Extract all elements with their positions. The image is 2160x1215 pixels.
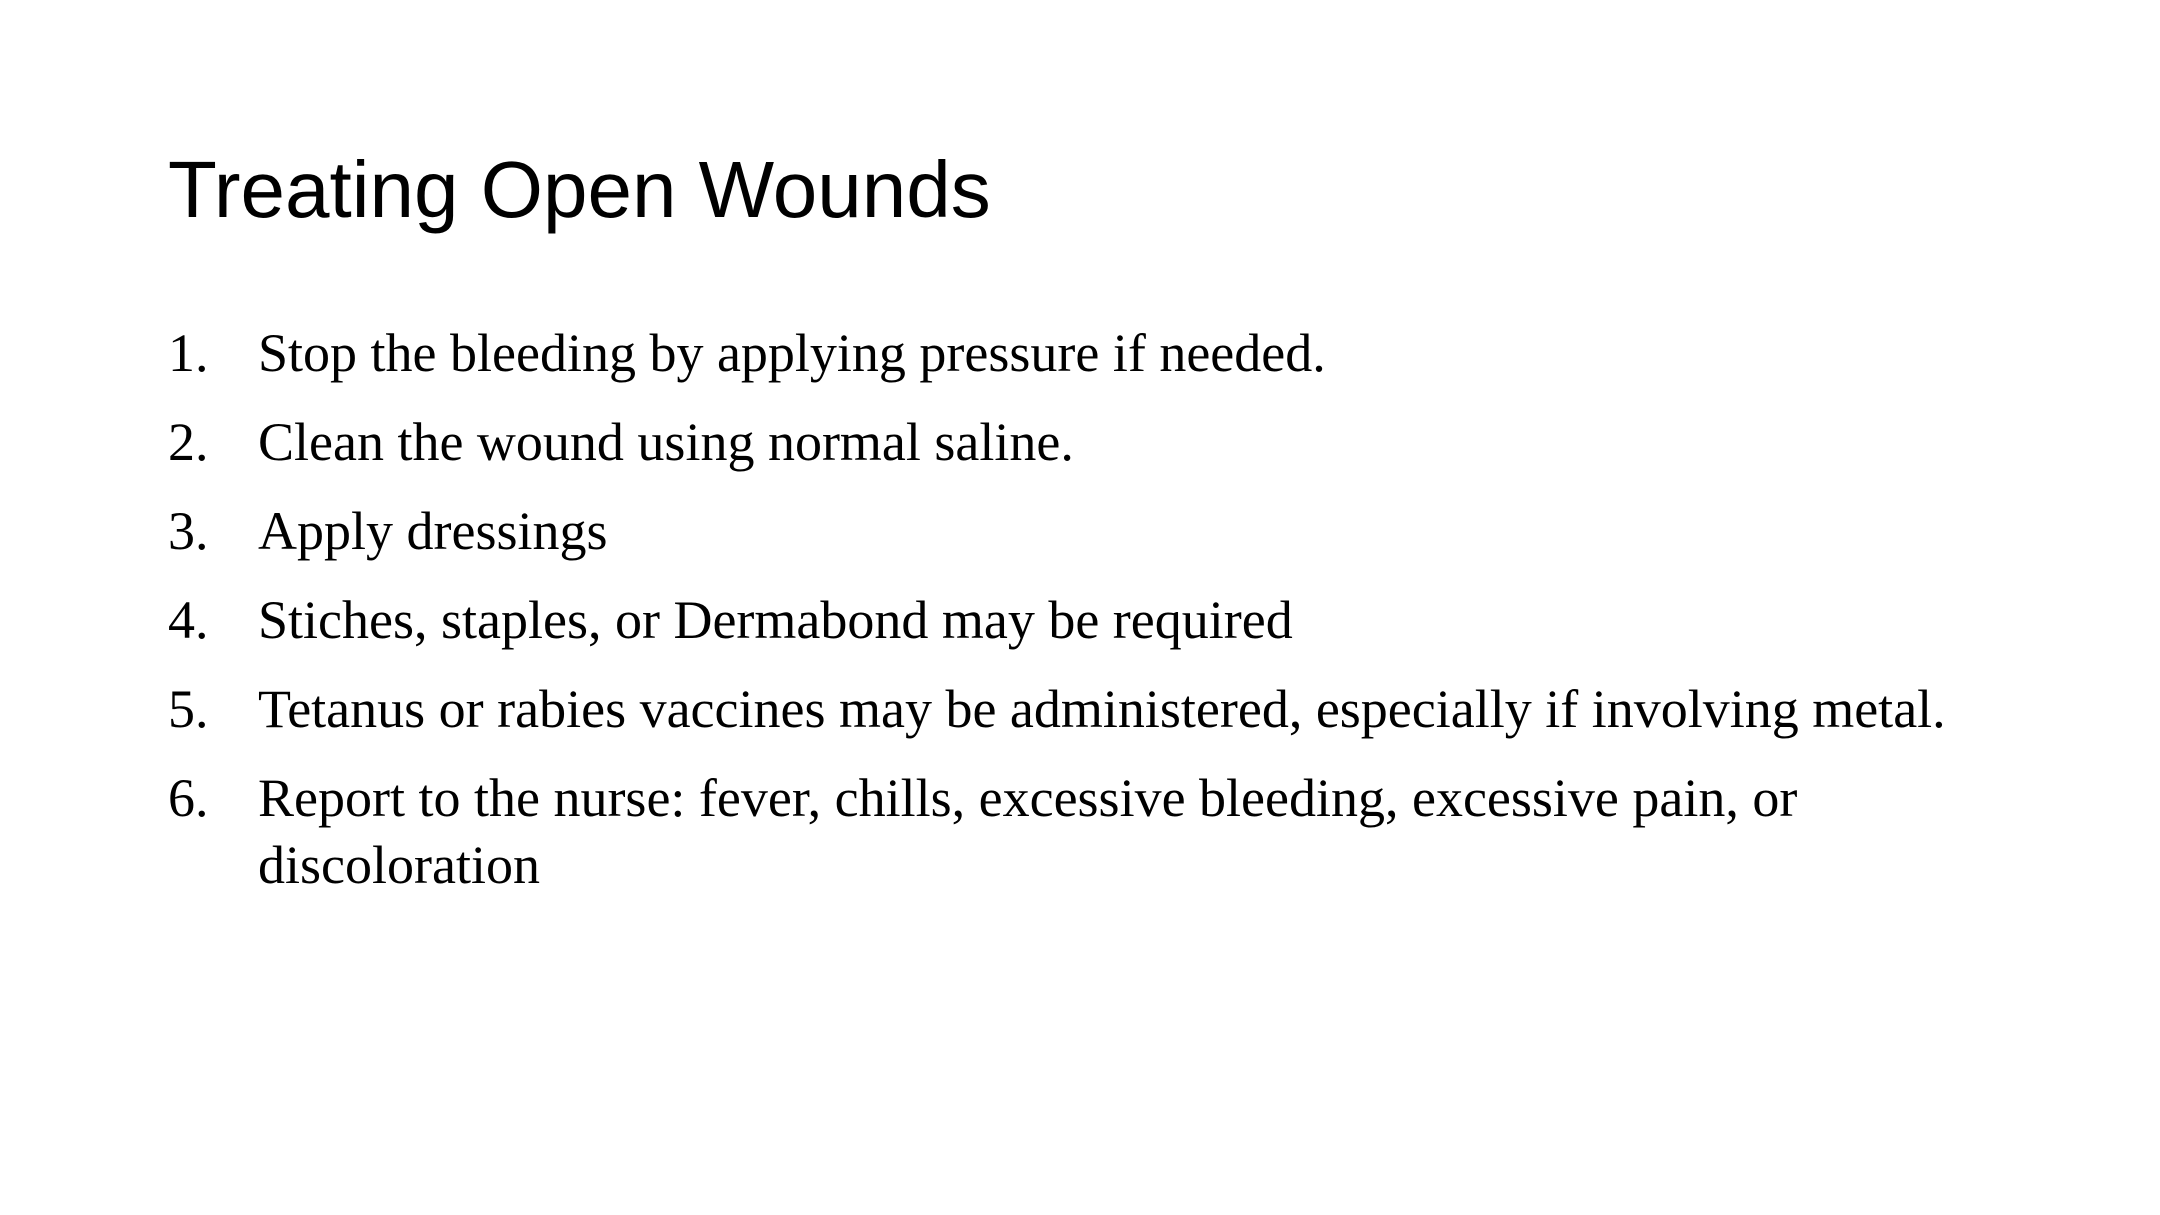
list-item-text: Apply dressings <box>258 498 2018 565</box>
list-item: 5. Tetanus or rabies vaccines may be adm… <box>168 676 2018 743</box>
list-item-marker: 3. <box>168 498 238 565</box>
list-item: 1. Stop the bleeding by applying pressur… <box>168 320 2018 387</box>
list-item-text: Report to the nurse: fever, chills, exce… <box>258 765 2018 899</box>
page-title: Treating Open Wounds <box>168 150 2008 230</box>
list-item: 4. Stiches, staples, or Dermabond may be… <box>168 587 2018 654</box>
list-item: 6. Report to the nurse: fever, chills, e… <box>168 765 2018 899</box>
list-item-text: Stiches, staples, or Dermabond may be re… <box>258 587 2018 654</box>
list-item-text: Stop the bleeding by applying pressure i… <box>258 320 2018 387</box>
slide-canvas: Treating Open Wounds 1. Stop the bleedin… <box>0 0 2160 1215</box>
ordered-instruction-list: 1. Stop the bleeding by applying pressur… <box>168 320 2018 899</box>
list-item-text: Clean the wound using normal saline. <box>258 409 2018 476</box>
list-item-marker: 1. <box>168 320 238 387</box>
list-item: 3. Apply dressings <box>168 498 2018 565</box>
list-item: 2. Clean the wound using normal saline. <box>168 409 2018 476</box>
list-item-marker: 5. <box>168 676 238 743</box>
list-item-marker: 4. <box>168 587 238 654</box>
list-item-text: Tetanus or rabies vaccines may be admini… <box>258 676 2018 743</box>
list-item-marker: 6. <box>168 765 238 832</box>
list-item-marker: 2. <box>168 409 238 476</box>
